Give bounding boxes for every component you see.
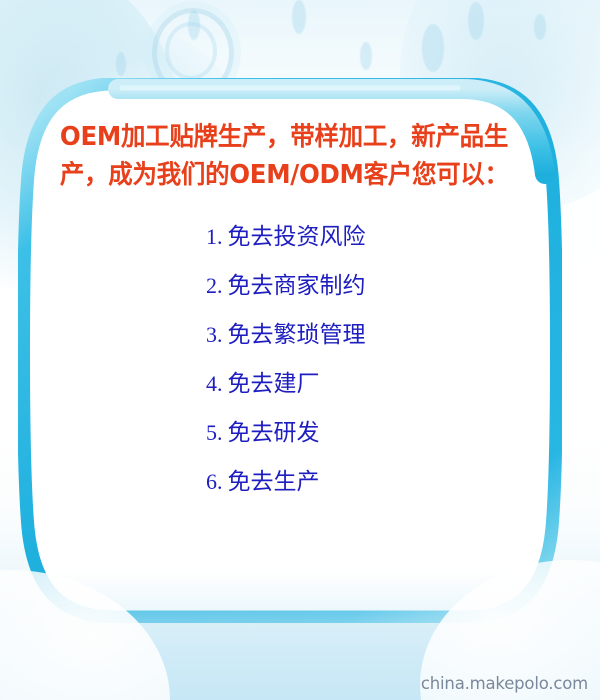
background-droplet-icon (292, 0, 306, 34)
list-item: 3.免去繁琐管理 (206, 324, 366, 373)
background-droplet-icon (188, 10, 200, 40)
list-item-number: 3. (206, 322, 228, 347)
background-droplet-icon (116, 52, 126, 76)
list-item-label: 免去生产 (228, 469, 320, 495)
promo-banner: OEM加工贴牌生产，带样加工，新产品生 产，成为我们的OEM/ODM客户您可以：… (0, 0, 600, 700)
list-item-label: 免去繁琐管理 (228, 322, 366, 348)
benefit-list: 1.免去投资风险 2.免去商家制约 3.免去繁琐管理 4.免去建厂 5.免去研发… (206, 226, 366, 520)
list-item-label: 免去建厂 (228, 371, 320, 397)
background-droplet-icon (468, 2, 484, 40)
list-item: 6.免去生产 (206, 471, 366, 520)
list-item-label: 免去研发 (228, 420, 320, 446)
list-item-number: 2. (206, 273, 228, 298)
list-item: 5.免去研发 (206, 422, 366, 471)
watermark: china.makepolo.com (421, 674, 588, 693)
headline-line-2: 产，成为我们的OEM/ODM客户您可以： (58, 156, 507, 194)
list-item-number: 4. (206, 371, 228, 396)
content-frame: OEM加工贴牌生产，带样加工，新产品生 产，成为我们的OEM/ODM客户您可以：… (18, 78, 562, 623)
list-item: 1.免去投资风险 (206, 226, 366, 275)
background-droplet-icon (360, 42, 372, 70)
list-item-number: 5. (206, 420, 228, 445)
list-item: 4.免去建厂 (206, 373, 366, 422)
list-item-number: 6. (206, 469, 228, 494)
frame-content: OEM加工贴牌生产，带样加工，新产品生 产，成为我们的OEM/ODM客户您可以：… (58, 118, 526, 588)
background-droplet-icon (534, 14, 546, 40)
background-droplet-icon (422, 24, 444, 72)
list-item-label: 免去商家制约 (228, 273, 366, 299)
list-item: 2.免去商家制约 (206, 275, 366, 324)
headline-line-1: OEM加工贴牌生产，带样加工，新产品生 (58, 118, 507, 156)
list-item-label: 免去投资风险 (228, 224, 366, 250)
list-item-number: 1. (206, 224, 228, 249)
